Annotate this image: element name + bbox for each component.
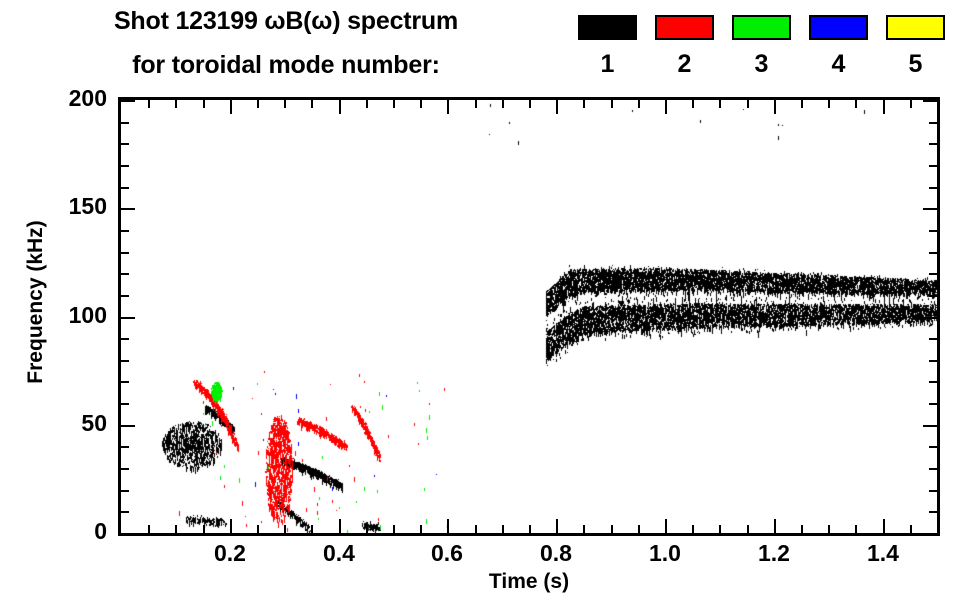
y-tick-label: 50 [25,410,107,437]
legend-label-1: 1 [578,50,637,79]
x-tick-major [774,519,776,533]
x-tick-major [556,519,558,533]
y-tick-minor [121,187,129,189]
plot-area: 0.20.40.60.81.01.21.4050100150200 [121,100,937,533]
legend-label-4: 4 [809,50,868,79]
x-tick-minor-top [284,100,286,108]
y-tick-minor [121,165,129,167]
x-tick-minor [529,525,531,533]
x-tick-minor [203,525,205,533]
y-tick-minor [121,295,129,297]
y-tick-minor-right [929,360,937,362]
x-tick-minor [611,525,613,533]
y-tick-minor [121,273,129,275]
y-tick-major [121,317,135,319]
y-tick-minor-right [929,468,937,470]
x-tick-minor-top [611,100,613,108]
axis-frame-right [937,97,940,536]
x-tick-minor [393,525,395,533]
x-tick-label: 1.4 [843,540,923,567]
y-tick-major-right [923,208,937,210]
x-tick-minor-top [148,100,150,108]
y-tick-label: 150 [25,193,107,220]
y-tick-minor [121,338,129,340]
x-tick-minor-top [747,100,749,108]
x-tick-minor [747,525,749,533]
y-tick-minor-right [929,446,937,448]
x-tick-minor [801,525,803,533]
x-tick-minor-top [393,100,395,108]
legend-swatch-2 [655,15,714,40]
y-tick-minor-right [929,230,937,232]
x-tick-major-top [447,100,449,114]
x-tick-minor [638,525,640,533]
y-tick-minor-right [929,165,937,167]
legend-label-5: 5 [886,50,945,79]
x-tick-minor-top [828,100,830,108]
x-tick-label: 1.0 [625,540,705,567]
y-tick-minor [121,511,129,513]
x-tick-minor-top [475,100,477,108]
legend-swatch-3 [732,15,791,40]
x-tick-minor-top [529,100,531,108]
x-tick-major-top [774,100,776,114]
y-tick-minor-right [929,252,937,254]
y-tick-minor [121,490,129,492]
x-tick-minor-top [719,100,721,108]
x-tick-minor-top [257,100,259,108]
legend-swatch-1 [578,15,637,40]
x-tick-minor-top [420,100,422,108]
title-text-line2: for toroidal mode number: [132,51,440,79]
x-tick-major-top [665,100,667,114]
x-axis-label: Time (s) [121,570,937,594]
y-tick-major-right [923,425,937,427]
y-tick-minor-right [929,295,937,297]
x-tick-major [447,519,449,533]
x-tick-label: 0.6 [407,540,487,567]
x-tick-minor-top [203,100,205,108]
y-tick-minor-right [929,187,937,189]
legend-swatch-5 [886,15,945,40]
y-tick-minor [121,446,129,448]
axis-frame-bottom [121,533,937,536]
y-tick-minor [121,403,129,405]
x-tick-minor-top [502,100,504,108]
title-text-line1: Shot 123199 ωB(ω) spectrum [114,7,458,35]
y-tick-major-right [923,317,937,319]
x-tick-minor-top [910,100,912,108]
x-tick-label: 0.4 [299,540,379,567]
y-tick-label: 200 [25,85,107,112]
x-tick-major-top [230,100,232,114]
x-tick-major-top [556,100,558,114]
chart-title-line1: Shot 123199 ωB(ω) spectrum [0,7,572,36]
y-tick-minor-right [929,273,937,275]
legend-label-3: 3 [732,50,791,79]
x-tick-minor [148,525,150,533]
y-tick-minor-right [929,122,937,124]
x-tick-minor [719,525,721,533]
y-tick-minor-right [929,381,937,383]
y-tick-minor-right [929,403,937,405]
spectrogram-canvas [121,100,937,533]
x-tick-minor-top [801,100,803,108]
x-tick-minor-top [855,100,857,108]
y-tick-minor [121,360,129,362]
y-tick-major-right [923,100,937,102]
y-tick-major [121,208,135,210]
x-tick-minor [284,525,286,533]
y-tick-minor [121,252,129,254]
x-tick-minor [828,525,830,533]
y-tick-major [121,100,135,102]
y-tick-minor [121,122,129,124]
x-tick-minor [583,525,585,533]
x-tick-minor-top [175,100,177,108]
y-tick-minor-right [929,490,937,492]
x-tick-major [230,519,232,533]
x-tick-minor [366,525,368,533]
x-tick-minor [420,525,422,533]
x-tick-minor-top [311,100,313,108]
x-tick-minor [175,525,177,533]
x-tick-minor-top [583,100,585,108]
y-tick-minor-right [929,143,937,145]
legend: 12345 [578,0,963,95]
y-tick-major [121,425,135,427]
y-tick-minor-right [929,511,937,513]
x-tick-major [339,519,341,533]
x-tick-minor-top [638,100,640,108]
y-tick-major-right [923,533,937,535]
x-tick-minor-top [692,100,694,108]
legend-swatch-4 [809,15,868,40]
x-tick-minor [855,525,857,533]
figure-root: Shot 123199 ωB(ω) spectrum for toroidal … [0,0,963,615]
legend-label-2: 2 [655,50,714,79]
y-tick-label: 100 [25,302,107,329]
chart-title-line2: for toroidal mode number: [0,51,572,80]
x-tick-label: 0.2 [190,540,270,567]
x-tick-minor [311,525,313,533]
y-tick-minor-right [929,338,937,340]
x-tick-label: 0.8 [516,540,596,567]
x-tick-major-top [339,100,341,114]
x-tick-minor [475,525,477,533]
y-tick-label: 0 [25,518,107,545]
x-tick-major-top [883,100,885,114]
x-tick-minor [910,525,912,533]
y-tick-minor [121,143,129,145]
x-tick-major [665,519,667,533]
x-tick-label: 1.2 [734,540,814,567]
x-tick-minor-top [366,100,368,108]
y-tick-minor [121,230,129,232]
x-tick-minor [692,525,694,533]
x-tick-major [883,519,885,533]
x-tick-minor [257,525,259,533]
y-tick-minor [121,468,129,470]
y-tick-major [121,533,135,535]
x-tick-minor [502,525,504,533]
y-tick-minor [121,381,129,383]
